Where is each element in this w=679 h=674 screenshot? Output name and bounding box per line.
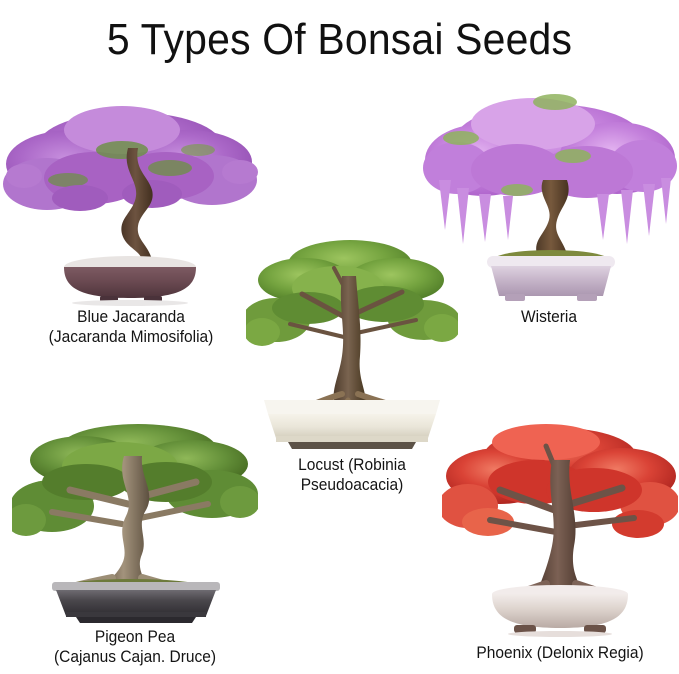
jacaranda-pot (64, 256, 196, 306)
bonsai-seeds-poster: 5 Types Of Bonsai Seeds (0, 0, 679, 674)
phoenix-illustration (442, 420, 678, 642)
bonsai-card-wisteria: Wisteria (421, 84, 677, 328)
bonsai-caption-jacaranda: Blue Jacaranda (Jacaranda Mimosifolia) (10, 308, 253, 347)
bonsai-image-locust (246, 228, 458, 454)
bonsai-image-wisteria (421, 84, 677, 306)
bonsai-card-jacaranda: Blue Jacaranda (Jacaranda Mimosifolia) (2, 84, 260, 347)
pigeonpea-illustration (12, 420, 258, 626)
bonsai-caption-wisteria: Wisteria (429, 308, 670, 328)
bonsai-card-pigeonpea: Pigeon Pea (Cajanus Cajan. Druce) (12, 420, 258, 667)
pigeonpea-pot (52, 582, 220, 623)
phoenix-pot (492, 585, 628, 637)
wisteria-pot (487, 256, 615, 301)
bonsai-caption-pigeonpea: Pigeon Pea (Cajanus Cajan. Druce) (19, 628, 250, 667)
bonsai-image-pigeonpea (12, 420, 258, 626)
jacaranda-illustration (2, 84, 260, 306)
bonsai-image-phoenix (442, 420, 678, 642)
locust-pot (264, 400, 440, 449)
wisteria-illustration (421, 84, 677, 306)
bonsai-image-jacaranda (2, 84, 260, 306)
bonsai-card-locust: Locust (Robinia Pseudoacacia) (246, 228, 458, 495)
bonsai-card-phoenix: Phoenix (Delonix Regia) (442, 420, 678, 664)
locust-illustration (246, 228, 458, 454)
page-title: 5 Types Of Bonsai Seeds (24, 0, 655, 79)
bonsai-caption-phoenix: Phoenix (Delonix Regia) (449, 644, 671, 664)
bonsai-caption-locust: Locust (Robinia Pseudoacacia) (252, 456, 451, 495)
